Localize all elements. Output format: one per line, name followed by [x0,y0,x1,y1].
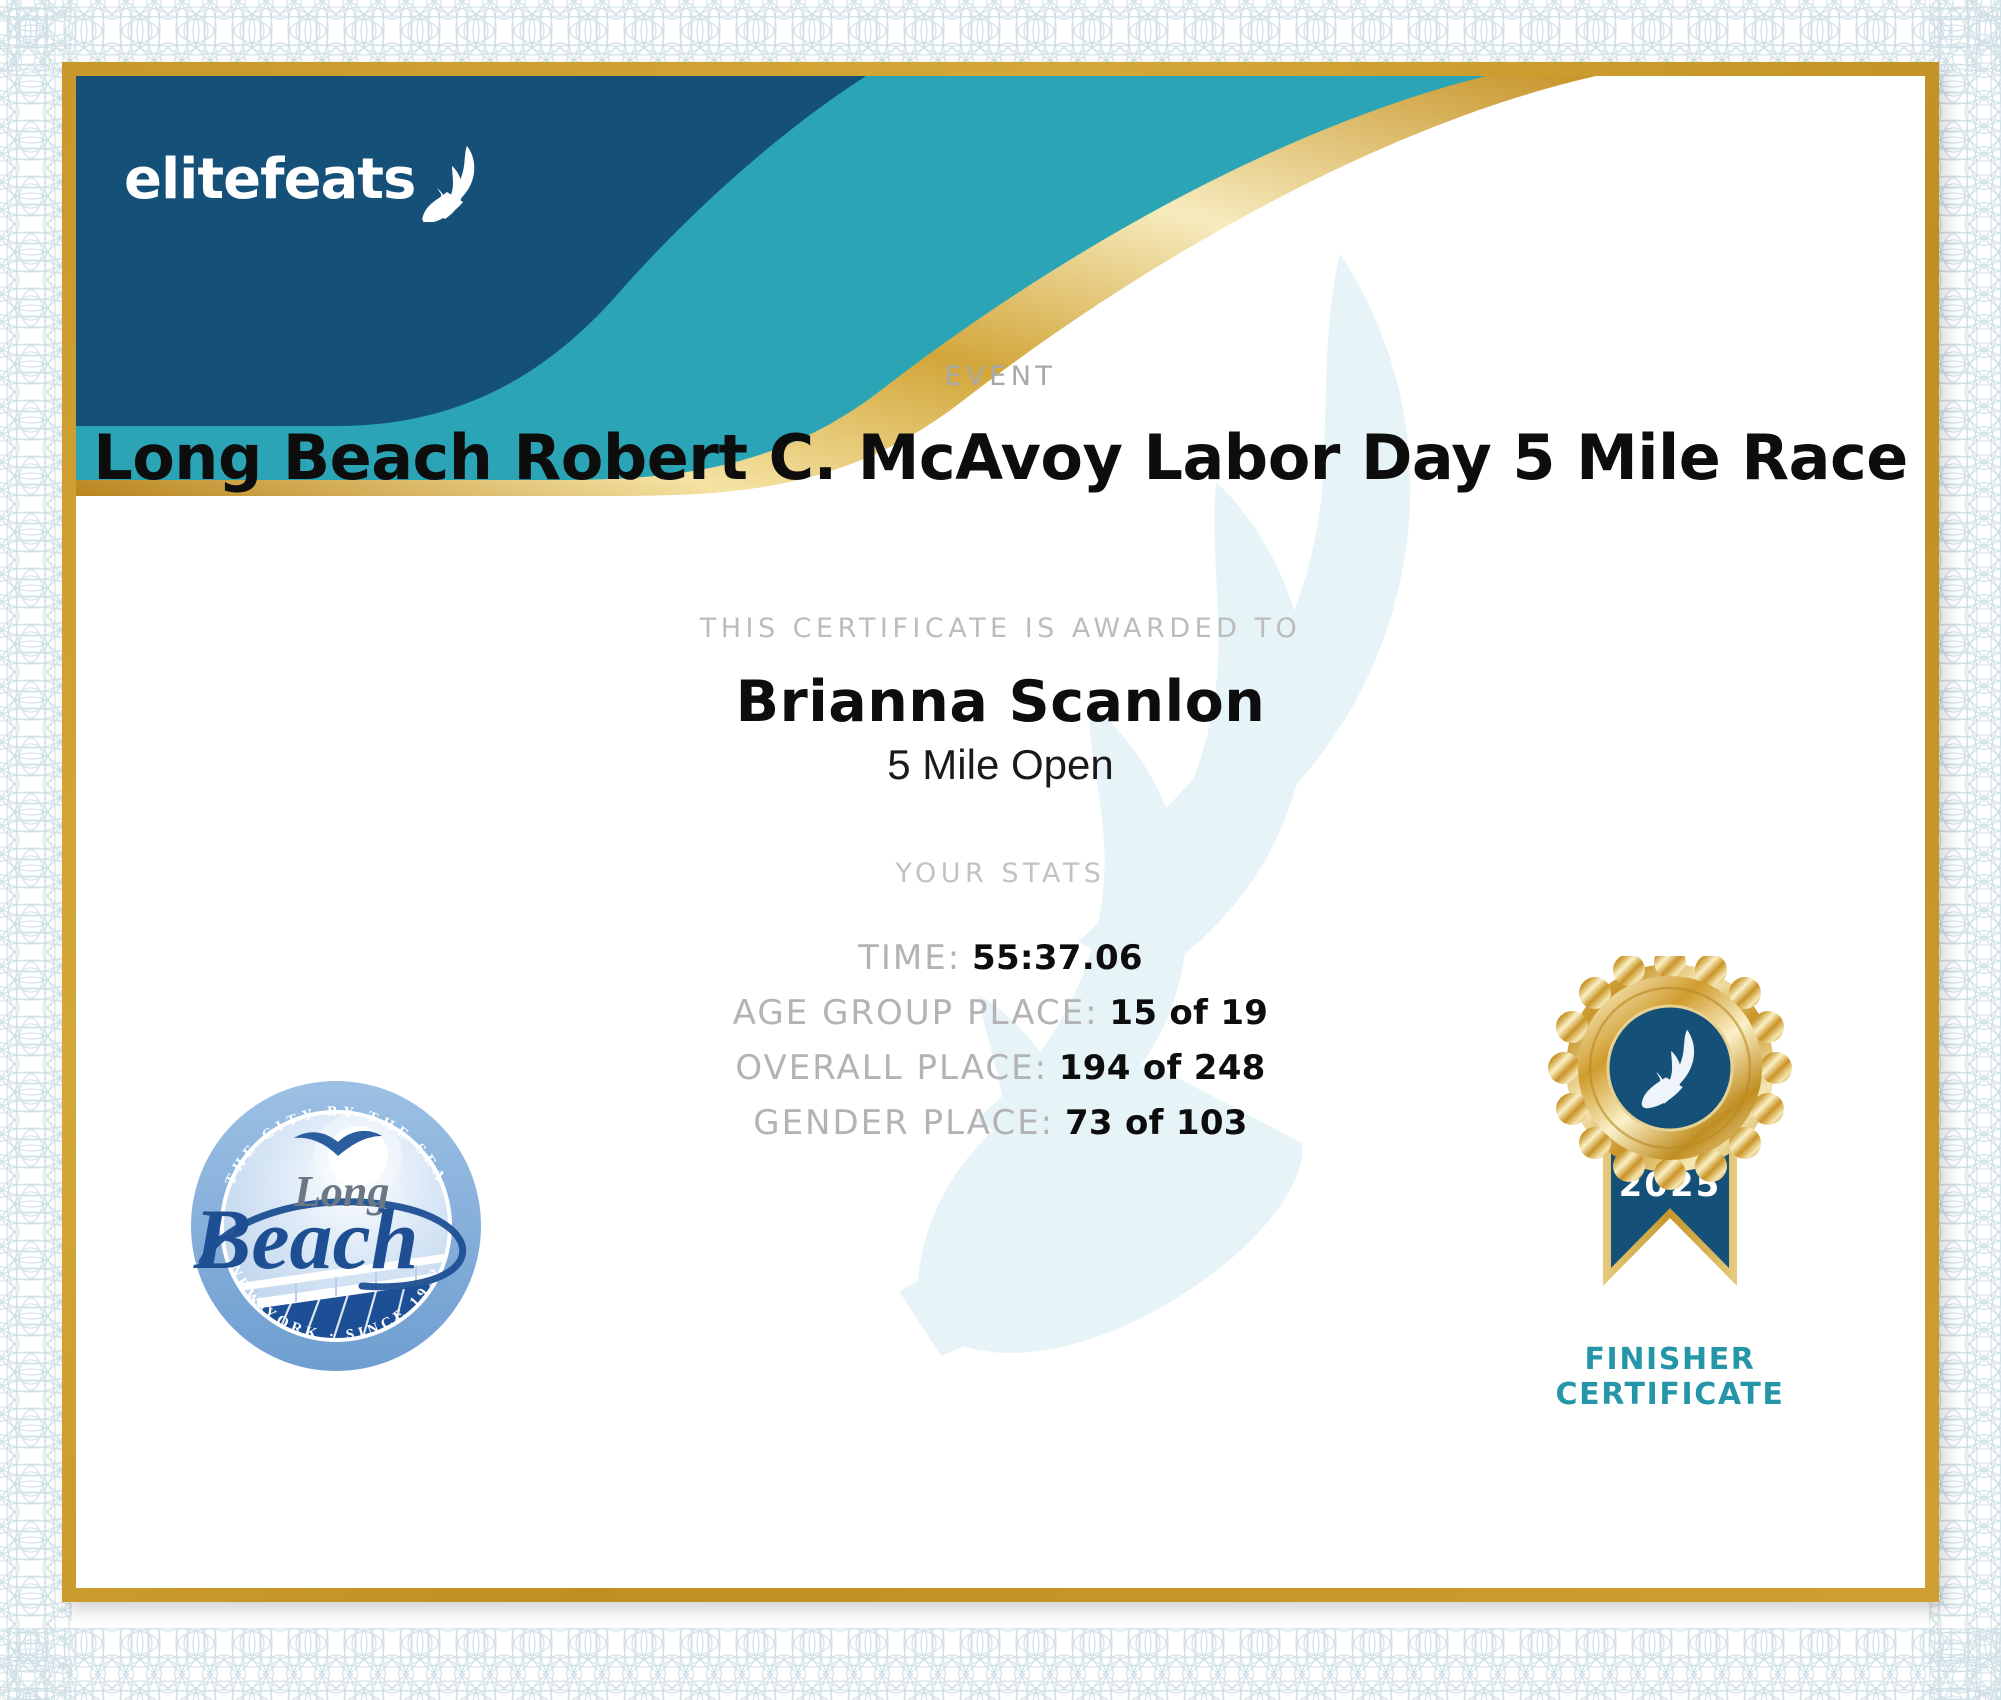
event-title: Long Beach Robert C. McAvoy Labor Day 5 … [76,421,1925,494]
recipient-name: Brianna Scanlon [76,669,1925,735]
awarded-label: THIS CERTIFICATE IS AWARDED TO [76,613,1925,644]
stat-value: 15 of 19 [1109,993,1268,1033]
certificate-frame: elitefeats EVENT Long Beach Robert C. Mc… [62,62,1939,1602]
seal-script-beach: Beach [193,1191,419,1287]
stat-label: OVERALL PLACE: [735,1048,1048,1088]
medal-caption-line1: FINISHER [1525,1342,1815,1377]
recipient-division: 5 Mile Open [76,741,1925,789]
event-label: EVENT [76,361,1925,392]
stat-label: GENDER PLACE: [753,1103,1054,1143]
medal-caption-line2: CERTIFICATE [1525,1377,1815,1412]
stat-value: 55:37.06 [972,938,1143,978]
stat-label: TIME: [858,938,961,978]
stats-label: YOUR STATS [76,858,1925,889]
long-beach-city-seal: THE CITY BY THE SEA NEW YORK · SINCE 192… [186,1076,486,1376]
stat-value: 194 of 248 [1059,1048,1266,1088]
medal-caption: FINISHER CERTIFICATE [1525,1342,1815,1413]
stat-value: 73 of 103 [1065,1103,1248,1143]
finisher-medal-badge: 2025 [1525,956,1815,1426]
stat-label: AGE GROUP PLACE: [733,993,1099,1033]
certificate-body: elitefeats EVENT Long Beach Robert C. Mc… [76,76,1925,1588]
